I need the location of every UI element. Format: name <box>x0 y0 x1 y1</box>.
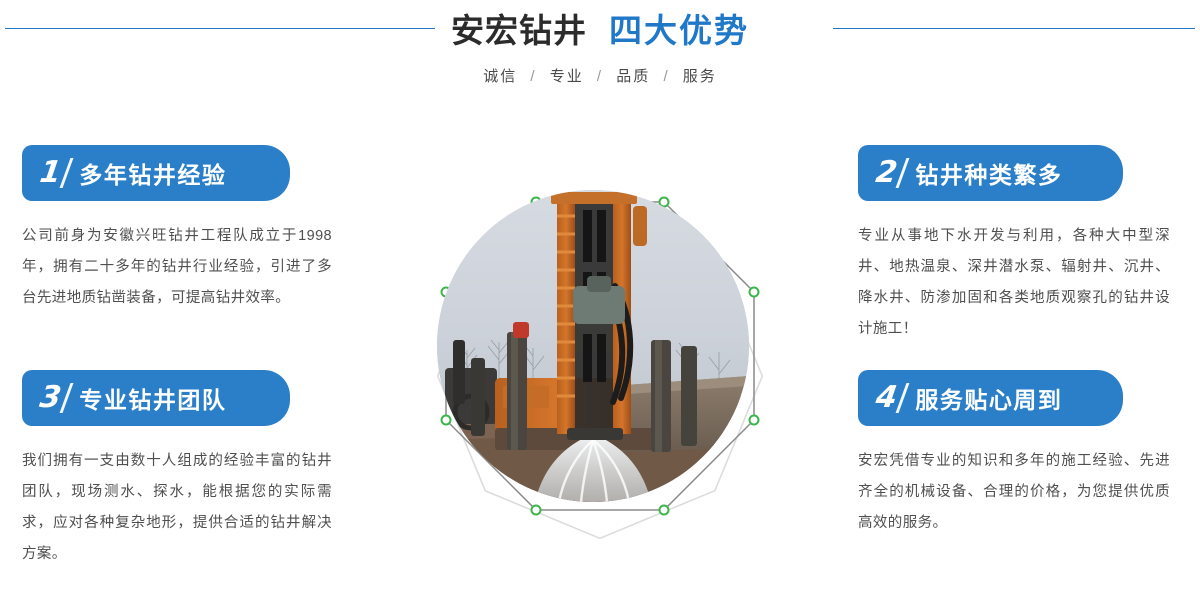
page-subtitle: 诚信 / 专业 / 品质 / 服务 <box>0 65 1200 86</box>
page-title-company: 安宏钻井 <box>451 12 587 49</box>
feature-card-3[interactable]: 3 专业钻井团队 我们拥有一支由数十人组成的经验丰富的钻井团队，现场测水、探水，… <box>22 370 342 570</box>
feature-card-1[interactable]: 1 多年钻井经验 公司前身为安徽兴旺钻井工程队成立于1998年，拥有二十多年的钻… <box>22 145 342 314</box>
feature-card-3-title: 专业钻井团队 <box>79 381 226 415</box>
feature-card-2-number: 2 <box>874 158 899 188</box>
feature-card-2-body: 专业从事地下水开发与利用，各种大中型深井、地热温泉、深井潜水泵、辐射井、沉井、降… <box>858 221 1170 345</box>
feature-card-1-number: 1 <box>38 158 63 188</box>
feature-card-3-body: 我们拥有一支由数十人组成的经验丰富的钻井团队，现场测水、探水，能根据您的实际需求… <box>22 446 332 570</box>
photo-content <box>437 192 749 502</box>
feature-card-4-number: 4 <box>874 383 899 413</box>
subtitle-item-1: 诚信 <box>483 68 517 85</box>
vertex-marker-5 <box>660 506 669 515</box>
feature-card-1-title: 多年钻井经验 <box>79 156 226 190</box>
subtitle-separator-1: / <box>530 68 536 85</box>
feature-card-1-body: 公司前身为安徽兴旺钻井工程队成立于1998年，拥有二十多年的钻井行业经验，引进了… <box>22 221 332 314</box>
page-title-highlight: 四大优势 <box>609 12 749 49</box>
feature-card-2-bar: 2 钻井种类繁多 <box>858 145 1123 201</box>
feature-card-4[interactable]: 4 服务贴心周到 安宏凭借专业的知识和多年的施工经验、先进齐全的机械设备、合理的… <box>858 370 1178 539</box>
center-graphic <box>370 108 830 593</box>
feature-card-2[interactable]: 2 钻井种类繁多 专业从事地下水开发与利用，各种大中型深井、地热温泉、深井潜水泵… <box>858 145 1178 345</box>
photo-scene <box>437 190 749 502</box>
subtitle-item-3: 品质 <box>616 68 650 85</box>
drilling-rig-photo <box>437 190 749 502</box>
vertex-marker-6 <box>532 506 541 515</box>
subtitle-separator-2: / <box>597 68 603 85</box>
subtitle-item-4: 服务 <box>683 68 717 85</box>
vertex-marker-4 <box>750 416 759 425</box>
feature-card-3-bar: 3 专业钻井团队 <box>22 370 290 426</box>
feature-card-4-bar: 4 服务贴心周到 <box>858 370 1123 426</box>
feature-card-4-body: 安宏凭借专业的知识和多年的施工经验、先进齐全的机械设备、合理的价格，为您提供优质… <box>858 446 1170 539</box>
page-title: 安宏钻井四大优势 <box>0 10 1200 52</box>
feature-card-3-number: 3 <box>38 383 63 413</box>
page-header: 安宏钻井四大优势 诚信 / 专业 / 品质 / 服务 <box>0 0 1200 110</box>
borehole-collar <box>567 428 623 440</box>
marker-post <box>513 322 529 338</box>
feature-card-1-bar: 1 多年钻井经验 <box>22 145 290 201</box>
subtitle-item-2: 专业 <box>550 68 584 85</box>
vertex-marker-3 <box>750 288 759 297</box>
page-root: 安宏钻井四大优势 诚信 / 专业 / 品质 / 服务 1 多年钻井经验 公司前身… <box>0 0 1200 600</box>
subtitle-separator-3: / <box>663 68 669 85</box>
feature-card-4-title: 服务贴心周到 <box>915 381 1062 415</box>
feature-card-2-title: 钻井种类繁多 <box>915 156 1062 190</box>
